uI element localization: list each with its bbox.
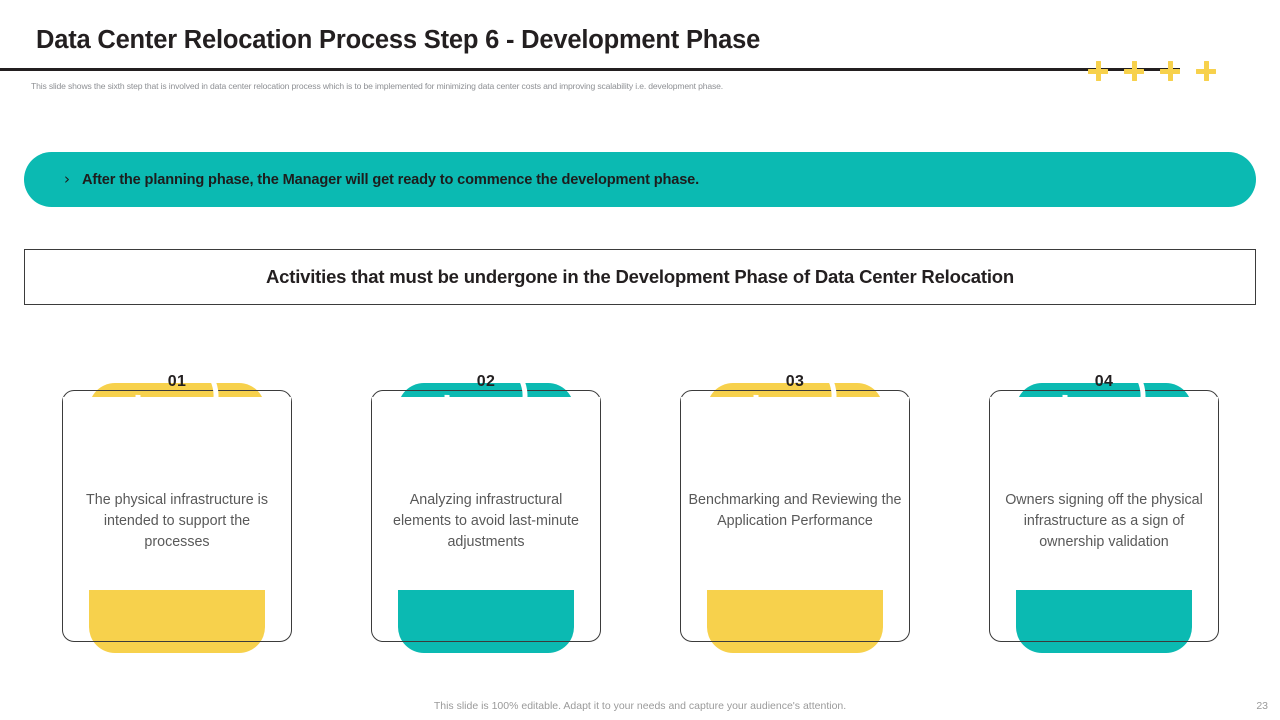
card-text: Owners signing off the physical infrastr… xyxy=(997,490,1211,553)
activity-card[interactable]: 01 The physical infrastructure is intend… xyxy=(62,345,292,655)
plus-icon xyxy=(1088,61,1108,81)
plus-icon xyxy=(1124,61,1144,81)
card-text: Benchmarking and Reviewing the Applicati… xyxy=(688,490,902,532)
ring-icon xyxy=(126,345,228,447)
card-number: 02 xyxy=(435,373,537,391)
activity-card[interactable]: 04 Owners signing off the physical infra… xyxy=(989,345,1219,655)
footer-note: This slide is 100% editable. Adapt it to… xyxy=(0,700,1280,712)
page-subtitle: This slide shows the sixth step that is … xyxy=(31,81,1131,91)
page-title: Data Center Relocation Process Step 6 - … xyxy=(36,26,760,55)
card-number: 03 xyxy=(744,373,846,391)
chevron-right-icon: › xyxy=(64,172,70,187)
section-heading-text: Activities that must be undergone in the… xyxy=(266,266,1014,288)
card-number-badge: 02 xyxy=(435,345,537,421)
plus-icon xyxy=(1196,61,1216,81)
activity-cards-row: 01 The physical infrastructure is intend… xyxy=(62,345,1222,655)
callout-text: After the planning phase, the Manager wi… xyxy=(82,172,699,188)
activity-card[interactable]: 02 Analyzing infrastructural elements to… xyxy=(371,345,601,655)
page-number: 23 xyxy=(1256,700,1268,712)
ring-icon xyxy=(1053,345,1155,447)
card-number-badge: 04 xyxy=(1053,345,1155,421)
ring-icon xyxy=(435,345,537,447)
activity-card[interactable]: 03 Benchmarking and Reviewing the Applic… xyxy=(680,345,910,655)
card-number-badge: 03 xyxy=(744,345,846,421)
card-number-badge: 01 xyxy=(126,345,228,421)
card-text: The physical infrastructure is intended … xyxy=(70,490,284,553)
callout-banner: › After the planning phase, the Manager … xyxy=(24,152,1256,207)
title-divider xyxy=(0,68,1180,71)
ring-icon xyxy=(744,345,846,447)
section-heading-box: Activities that must be undergone in the… xyxy=(24,249,1256,305)
plus-icon xyxy=(1160,61,1180,81)
card-number: 04 xyxy=(1053,373,1155,391)
card-number: 01 xyxy=(126,373,228,391)
card-text: Analyzing infrastructural elements to av… xyxy=(379,490,593,553)
